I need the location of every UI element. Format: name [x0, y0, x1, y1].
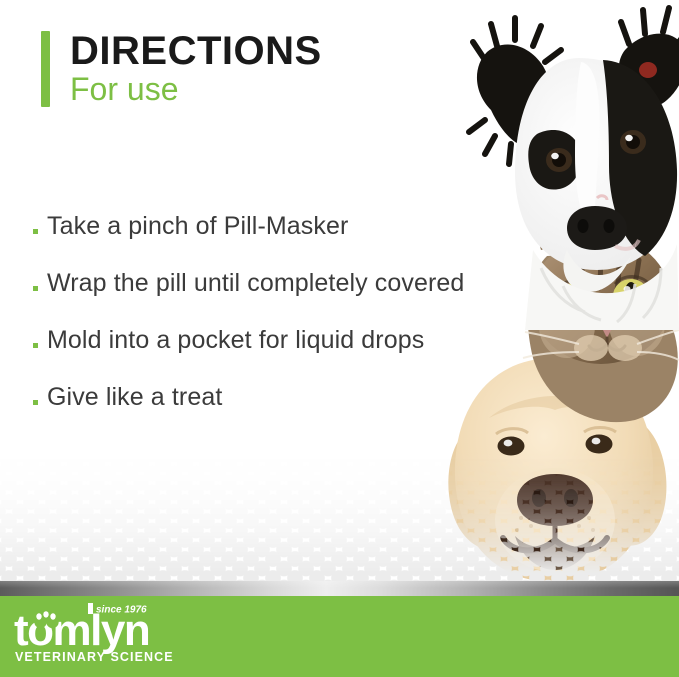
logo-subtitle: VETERINARY SCIENCE [15, 650, 174, 664]
metallic-divider-bar [0, 581, 679, 596]
list-item: Give like a treat [33, 369, 593, 426]
directions-step-list: Take a pinch of Pill-Masker Wrap the pil… [33, 198, 593, 426]
bullet-icon [33, 400, 38, 405]
list-item: Wrap the pill until completely covered [33, 255, 593, 312]
page-subtitle: For use [70, 73, 322, 107]
step-label: Take a pinch of Pill-Masker [47, 212, 348, 241]
bullet-icon [33, 286, 38, 291]
bullet-icon [33, 343, 38, 348]
step-label: Give like a treat [47, 383, 222, 412]
logo-wordmark: tomlyn [14, 606, 149, 655]
header-text: DIRECTIONS For use [70, 31, 322, 107]
list-item: Take a pinch of Pill-Masker [33, 198, 593, 255]
list-item: Mold into a pocket for liquid drops [33, 312, 593, 369]
green-accent-bar [41, 31, 50, 107]
tomlyn-logo: since 1976 tomlyn VETERINARY SCIENCE [14, 601, 214, 667]
page-title: DIRECTIONS [70, 31, 322, 71]
header: DIRECTIONS For use [41, 31, 322, 107]
step-label: Mold into a pocket for liquid drops [47, 326, 424, 355]
step-label: Wrap the pill until completely covered [47, 269, 464, 298]
honeycomb-dot-pattern [0, 436, 679, 596]
directions-card: DIRECTIONS For use Take a pinch of Pill-… [0, 0, 679, 677]
bullet-icon [33, 229, 38, 234]
